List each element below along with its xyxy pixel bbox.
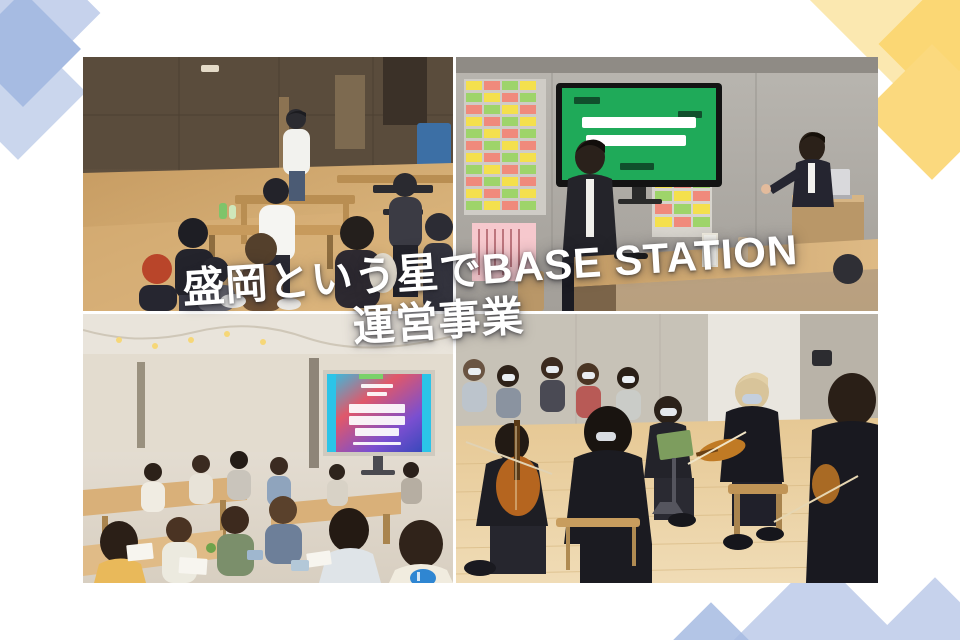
diamond-shape	[878, 0, 960, 118]
photo-cell-bottom-left	[83, 314, 453, 583]
photo-cell-top-left	[83, 57, 453, 311]
diamond-shape	[864, 44, 960, 180]
photo-cell-top-right	[456, 57, 878, 311]
photo-collage	[83, 57, 878, 583]
diamond-shape	[0, 0, 81, 107]
diamond-shape	[650, 602, 772, 640]
diamond-shape	[857, 577, 960, 640]
photo-workshop-setup	[83, 57, 453, 311]
slide-canvas: 盛岡という星でBASE STATION 運営事業	[0, 0, 960, 640]
photo-radio-workshop	[83, 314, 453, 583]
diamond-shape	[0, 24, 86, 160]
photo-presentation	[456, 57, 878, 311]
photo-concert	[456, 314, 878, 583]
photo-cell-bottom-right	[456, 314, 878, 583]
